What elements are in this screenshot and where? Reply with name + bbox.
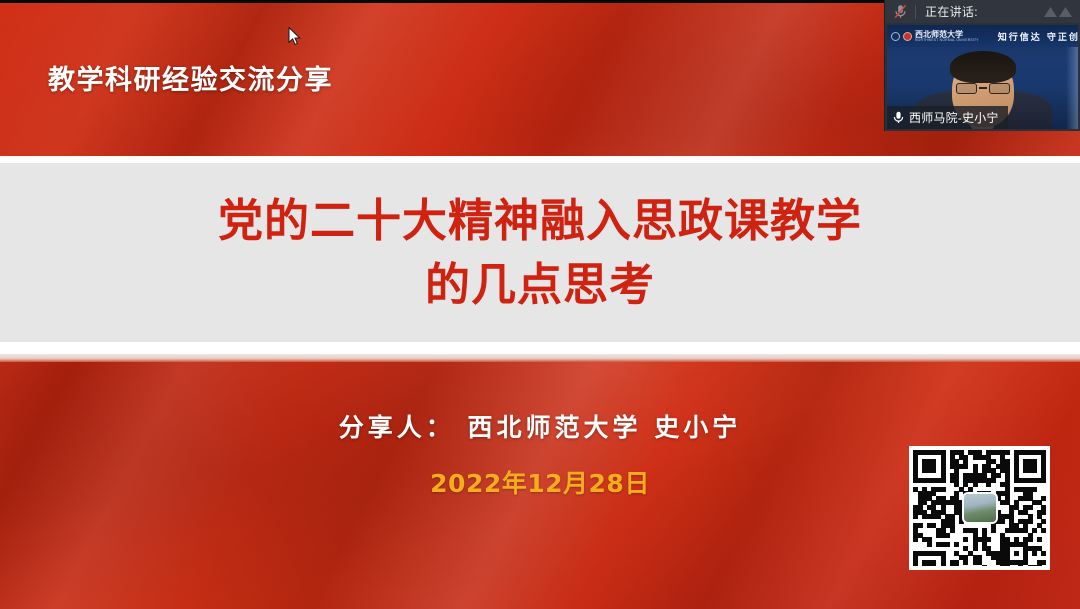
university-subtitle: NORTHWEST NORMAL UNIVERSITY — [915, 38, 979, 42]
university-slogan: 知行信达 守正创新 — [998, 30, 1078, 43]
page-title-line-1: 党的二十大精神融入思政课教学 — [218, 189, 862, 253]
emblem-icon — [891, 32, 900, 41]
band-divider-bottom — [0, 342, 1080, 354]
university-name: 西北师范大学 — [915, 30, 979, 38]
presenter-line: 分享人： 西北师范大学 史小宁 — [0, 408, 1080, 444]
top-black-bar — [0, 0, 884, 3]
participant-hair — [950, 51, 1016, 83]
screen: 教学科研经验交流分享 党的二十大精神融入思政课教学 的几点思考 分享人： 西北师… — [0, 0, 1080, 609]
video-feed-banner: 西北师范大学 NORTHWEST NORMAL UNIVERSITY 知行信达 … — [887, 25, 1078, 47]
collapse-chevrons-icon[interactable] — [1043, 4, 1073, 19]
video-panel-header: 正在讲话: — [885, 0, 1080, 23]
slide-title-band: 党的二十大精神融入思政课教学 的几点思考 — [0, 163, 1080, 342]
microphone-muted-icon[interactable] — [885, 0, 915, 23]
university-seal-icon — [903, 32, 912, 41]
glasses-lens-left — [956, 83, 977, 94]
participant-glasses — [956, 82, 1010, 94]
header-divider — [915, 5, 916, 19]
video-feed-edge-light — [1066, 47, 1078, 129]
page-title-line-2: 的几点思考 — [425, 253, 655, 317]
video-feed[interactable]: 西北师范大学 NORTHWEST NORMAL UNIVERSITY 知行信达 … — [887, 25, 1078, 129]
participant-name-tag: 西师马院-史小宁 — [887, 106, 1008, 129]
band-fade-bottom — [0, 354, 1080, 362]
microphone-icon — [893, 111, 904, 124]
glasses-bridge — [979, 87, 987, 88]
participant-name: 西师马院-史小宁 — [909, 109, 999, 126]
slide-kicker: 教学科研经验交流分享 — [48, 58, 333, 97]
qr-code-center-logo — [964, 494, 996, 522]
speaking-label: 正在讲话: — [925, 3, 978, 20]
qr-code — [909, 446, 1050, 570]
glasses-lens-right — [989, 83, 1010, 94]
video-panel[interactable]: 正在讲话: 西北师范大学 NORTHWEST NORMAL UNIVERSITY… — [884, 0, 1080, 131]
qr-code-matrix — [913, 450, 1046, 566]
